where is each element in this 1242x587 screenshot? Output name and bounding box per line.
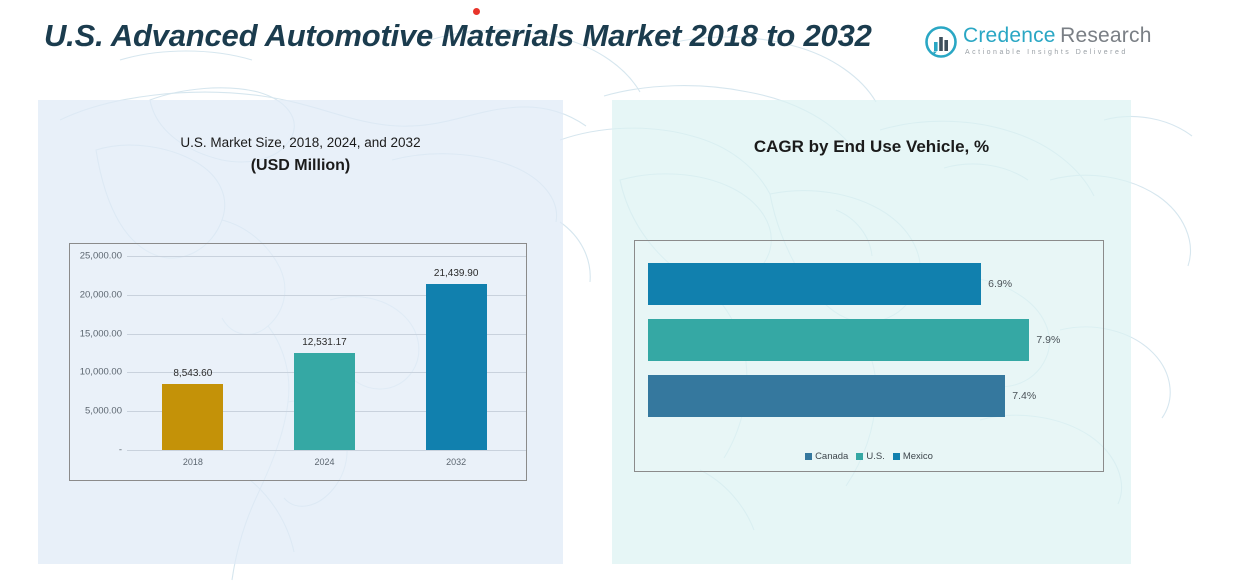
x-axis-tick-label: 2032 <box>446 457 466 467</box>
column-bar[interactable] <box>162 384 223 450</box>
column-group: 12,531.172024 <box>294 256 355 450</box>
y-axis-tick-label: 20,000.00 <box>70 289 122 300</box>
column-group: 8,543.602018 <box>162 256 223 450</box>
legend-label: Canada <box>815 451 848 462</box>
legend-item[interactable]: Mexico <box>893 451 933 462</box>
x-axis-tick-label: 2024 <box>314 457 334 467</box>
legend-item[interactable]: Canada <box>805 451 848 462</box>
legend-swatch <box>856 453 863 460</box>
y-axis-tick-label: 25,000.00 <box>70 251 122 262</box>
bar-value-label: 7.9% <box>1036 334 1060 346</box>
column-bar[interactable] <box>294 353 355 450</box>
brand-wordmark: Credence Research <box>963 24 1152 48</box>
horizontal-bar[interactable] <box>648 319 1029 361</box>
left-panel: U.S. Market Size, 2018, 2024, and 2032 (… <box>38 100 563 564</box>
brand-tagline: Actionable Insights Delivered <box>965 49 1128 56</box>
x-axis-tick-label: 2018 <box>183 457 203 467</box>
right-panel: CAGR by End Use Vehicle, % 6.9%7.9%7.4% … <box>612 100 1131 564</box>
plot-area: 8,543.60201812,531.17202421,439.902032 <box>127 256 522 450</box>
brand-name-secondary: Research <box>1060 24 1151 47</box>
gridline <box>127 450 526 451</box>
credence-logo-icon <box>925 26 957 58</box>
y-axis-tick-label: - <box>70 445 122 456</box>
column-bar[interactable] <box>426 284 487 450</box>
market-size-column-chart: -5,000.0010,000.0015,000.0020,000.0025,0… <box>69 243 527 481</box>
legend-label: Mexico <box>903 451 933 462</box>
column-value-label: 8,543.60 <box>173 368 212 379</box>
bar-value-label: 7.4% <box>1012 390 1036 402</box>
bar-row: 7.9% <box>648 319 1097 361</box>
bar-row: 6.9% <box>648 263 1097 305</box>
column-group: 21,439.902032 <box>426 256 487 450</box>
right-chart-title: CAGR by End Use Vehicle, % <box>612 137 1131 157</box>
column-value-label: 21,439.90 <box>434 268 479 279</box>
infographic-root: U.S. Advanced Automotive Materials Marke… <box>0 0 1242 587</box>
left-chart-subtitle: U.S. Market Size, 2018, 2024, and 2032 <box>38 135 563 150</box>
horizontal-bar[interactable] <box>648 375 1005 417</box>
y-axis-tick-label: 10,000.00 <box>70 367 122 378</box>
bar-row: 7.4% <box>648 375 1097 417</box>
legend-label: U.S. <box>866 451 884 462</box>
horizontal-bar[interactable] <box>648 263 981 305</box>
y-axis-tick-label: 15,000.00 <box>70 328 122 339</box>
accent-dot-icon <box>473 8 480 15</box>
page-title: U.S. Advanced Automotive Materials Marke… <box>44 14 934 58</box>
left-chart-unit: (USD Million) <box>38 157 563 175</box>
chart-legend: CanadaU.S.Mexico <box>635 451 1103 462</box>
bar-value-label: 6.9% <box>988 278 1012 290</box>
cagr-bar-chart: 6.9%7.9%7.4% CanadaU.S.Mexico <box>634 240 1104 472</box>
brand-logo[interactable]: Credence Research Actionable Insights De… <box>925 24 1120 64</box>
legend-item[interactable]: U.S. <box>856 451 884 462</box>
legend-swatch <box>893 453 900 460</box>
y-axis-tick-label: 5,000.00 <box>70 406 122 417</box>
legend-swatch <box>805 453 812 460</box>
column-value-label: 12,531.17 <box>302 337 347 348</box>
brand-name-primary: Credence <box>963 24 1056 47</box>
